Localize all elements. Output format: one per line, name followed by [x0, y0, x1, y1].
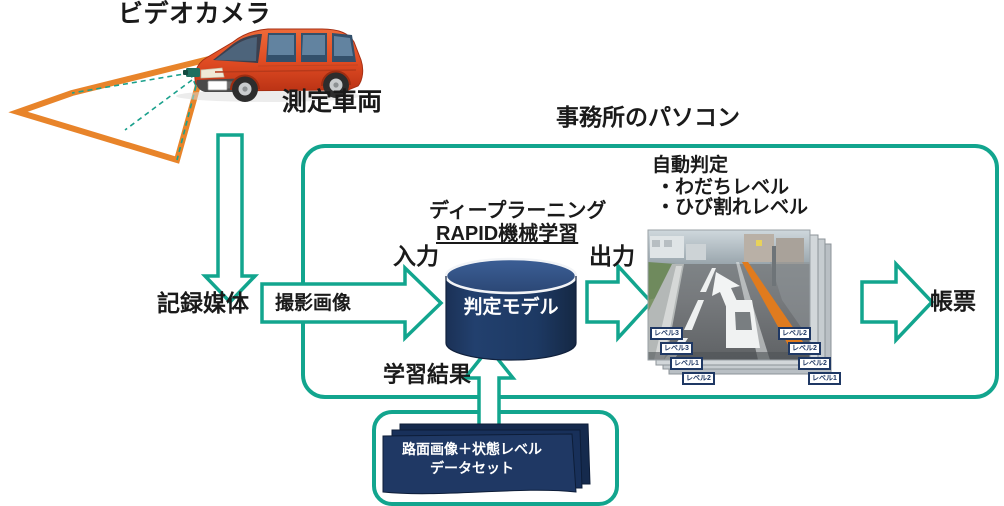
label-dataset-line2: データセット — [386, 459, 558, 478]
label-report: 帳票 — [930, 288, 976, 314]
level-tag: レベル2 — [682, 372, 715, 385]
output-arrow-icon — [587, 266, 651, 338]
level-tag: レベル2 — [778, 327, 811, 340]
label-captured-image: 撮影画像 — [275, 293, 351, 315]
label-deep-learning-2: RAPID機械学習 — [436, 223, 578, 246]
level-tag: レベル2 — [788, 342, 821, 355]
road-surface-photo-icon — [648, 230, 810, 360]
label-output: 出力 — [589, 243, 635, 269]
label-auto-judgement: 自動判定 — [652, 155, 728, 177]
label-dataset-line1: 路面画像＋状態レベル — [386, 440, 558, 459]
level-tag: レベル3 — [660, 342, 693, 355]
level-tag: レベル1 — [670, 357, 703, 370]
level-tag: レベル1 — [808, 372, 841, 385]
down-arrow-icon — [205, 135, 255, 302]
report-arrow-icon — [862, 264, 932, 340]
label-training-result: 学習結果 — [383, 362, 471, 387]
diagram-canvas: ビデオカメラ 測定車両 事務所のパソコン 記録媒体 撮影画像 入力 出力 ディー… — [0, 0, 1004, 506]
level-tag: レベル2 — [798, 357, 831, 370]
label-recording-media: 記録媒体 — [157, 290, 249, 316]
video-camera-icon — [183, 68, 200, 77]
level-tag: レベル3 — [650, 327, 683, 340]
diagram-vector-layer — [0, 0, 1004, 506]
label-dataset: 路面画像＋状態レベル データセット — [386, 440, 558, 478]
label-model: 判定モデル — [452, 292, 570, 319]
label-deep-learning-1: ディープラーニング — [429, 200, 606, 223]
label-vehicle: 測定車両 — [282, 88, 382, 117]
label-office-pc: 事務所のパソコン — [556, 104, 740, 130]
label-video-camera: ビデオカメラ — [118, 0, 271, 29]
label-input: 入力 — [393, 243, 439, 269]
label-auto-item-rut: ・わだちレベル — [656, 177, 789, 199]
label-auto-item-crack: ・ひび割れレベル — [656, 197, 808, 219]
